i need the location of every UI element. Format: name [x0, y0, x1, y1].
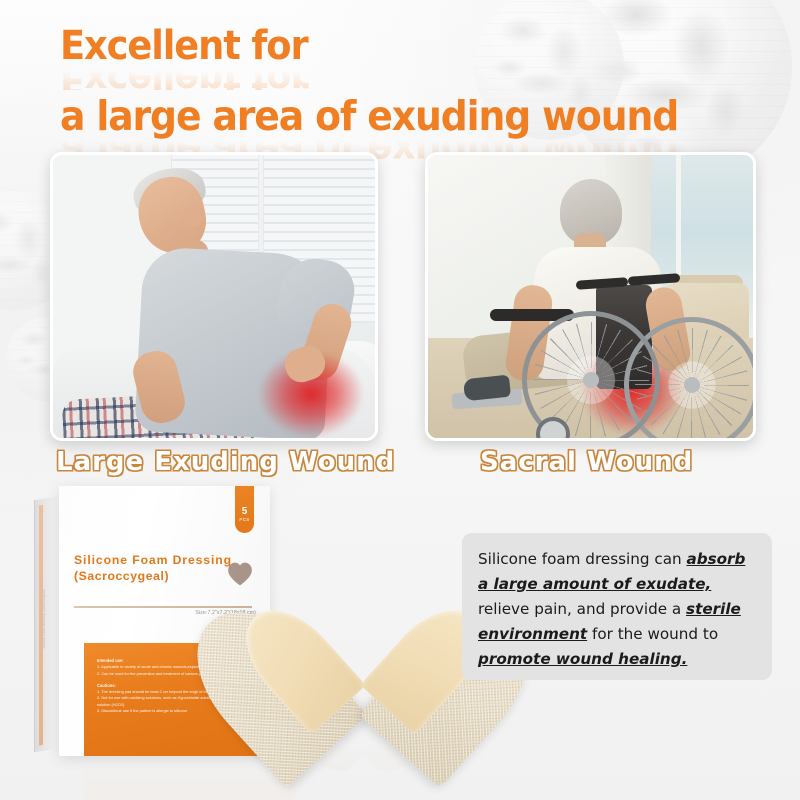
photo-large-exuding-wound [50, 152, 378, 441]
description-plain: Silicone foam dressing can [478, 550, 686, 568]
description-plain: relieve pain, and provide a [478, 600, 686, 618]
heart-dressing-icon [226, 560, 254, 588]
heart-dressing-reflection [258, 742, 468, 800]
heart-shape [292, 551, 435, 704]
photo-inner [53, 155, 375, 438]
heart-foam-dressing [258, 528, 468, 740]
box-side-panel: Silicone Foam Dressing (Sacroccygeal) [34, 496, 61, 752]
box-divider-rule [74, 606, 252, 608]
box-quantity-unit: PCS [235, 517, 254, 523]
box-side-text: Silicone Foam Dressing (Sacroccygeal) [42, 552, 47, 649]
bedroom-scene [53, 155, 375, 438]
dressing-foam-pad [292, 551, 435, 704]
headline-line-2: a large area of exuding wound [60, 94, 704, 138]
headline-line-1-reflection: Excellent for [60, 68, 704, 90]
box-title-line-2: (Sacroccygeal) [74, 569, 169, 583]
photo-sacral-wound [425, 152, 756, 441]
box-title-line-1: Silicone Foam Dressing [74, 553, 232, 567]
description-emphasis: promote wound healing. [478, 650, 687, 668]
photo-inner [428, 155, 753, 438]
box-quantity-count: 5 [235, 506, 254, 517]
wheel-hub [684, 377, 700, 393]
caption-large-exuding-wound: Large Exuding Wound [56, 447, 395, 477]
headline: Excellent for Excellent for a large area… [60, 24, 760, 162]
description-text: Silicone foam dressing can absorb a larg… [478, 547, 756, 672]
patient-ear [185, 207, 201, 227]
clinic-scene [428, 155, 753, 438]
wheel-hub [583, 372, 599, 388]
description-plain: for the wound to [587, 625, 718, 643]
caption-sacral-wound: Sacral Wound [480, 447, 693, 477]
description-panel: Silicone foam dressing can absorb a larg… [462, 533, 772, 680]
product-marketing-image: Excellent for Excellent for a large area… [0, 0, 800, 800]
box-quantity-tab: 5 PCS [235, 486, 254, 533]
headline-line-1: Excellent for [60, 24, 704, 68]
heart-shape [258, 742, 468, 800]
